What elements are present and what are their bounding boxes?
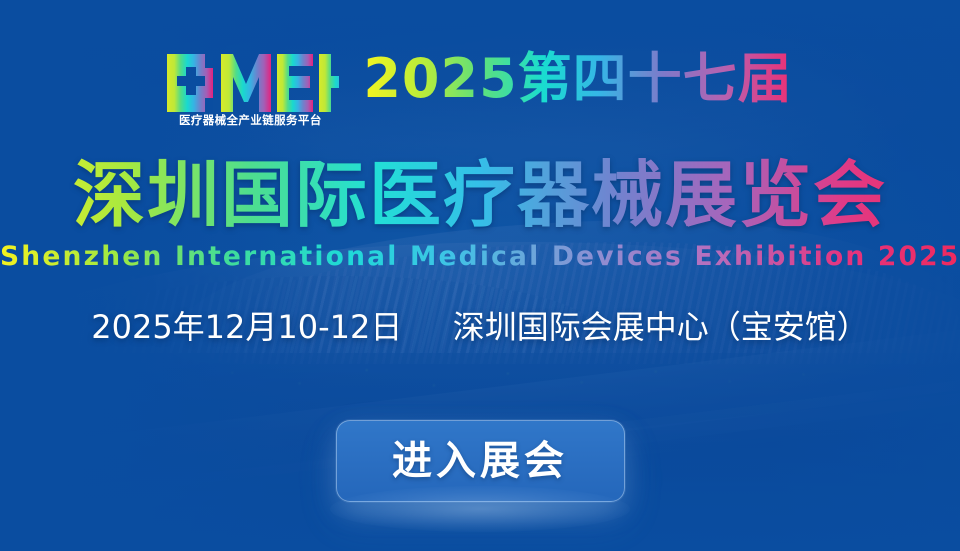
cmeh-letter-c-icon [167,54,213,112]
event-date: 2025年12月10-12日 [91,308,402,346]
main-title-english: Shenzhen International Medical Devices E… [0,241,960,273]
logo-tagline: 医疗器械全产业链服务平台 [169,111,331,128]
cmeh-logo-mark [167,52,339,114]
cmeh-letter-e [277,54,313,112]
event-venue: 深圳国际会展中心（宝安馆） [453,308,869,346]
exhibition-poster: 医疗器械全产业链服务平台 2025第四十七届 深圳国际医疗器械展览会 Shenz… [0,0,960,551]
poster-content: 医疗器械全产业链服务平台 2025第四十七届 深圳国际医疗器械展览会 Shenz… [0,0,960,551]
event-meta: 2025年12月10-12日 深圳国际会展中心（宝安馆） [0,305,960,349]
edition-title: 2025第四十七届 [363,48,792,110]
logo-edition-row: 医疗器械全产业链服务平台 2025第四十七届 [0,48,960,128]
main-title-chinese: 深圳国际医疗器械展览会 [0,152,960,238]
enter-exhibition-button[interactable]: 进入展会 [336,420,625,502]
enter-exhibition-button-label: 进入展会 [392,438,568,484]
cmeh-letter-h [319,54,339,112]
cmeh-logo: 医疗器械全产业链服务平台 [167,52,339,128]
cta-row: 进入展会 [0,420,960,502]
cmeh-letter-m [221,54,271,112]
